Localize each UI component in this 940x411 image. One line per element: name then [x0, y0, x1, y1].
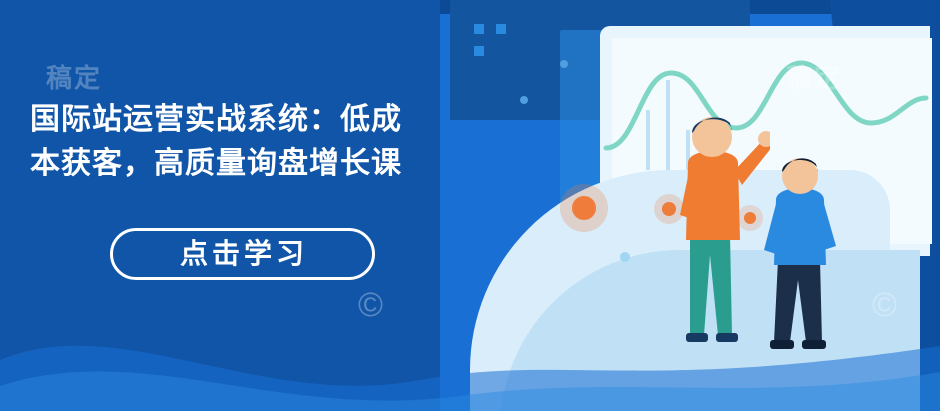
course-banner: 国际站运营实战系统：低成本获客，高质量询盘增长课 点击学习 稿定 稿定 © ©	[0, 0, 940, 411]
banner-title-line1: 国际站运营实战系统：低成	[30, 103, 402, 136]
decor-squares	[470, 20, 560, 110]
dot-blue-a	[620, 252, 630, 262]
banner-title: 国际站运营实战系统：低成本获客，高质量询盘增长课	[30, 98, 630, 186]
cta-button-label[interactable]: 点击学习	[124, 232, 364, 276]
banner-title-line2: 本获客，高质量询盘增长课	[30, 147, 402, 180]
dot-blue-d	[560, 60, 568, 68]
bottom-wave-decor	[0, 300, 940, 411]
dot-orange-halo	[560, 184, 608, 232]
